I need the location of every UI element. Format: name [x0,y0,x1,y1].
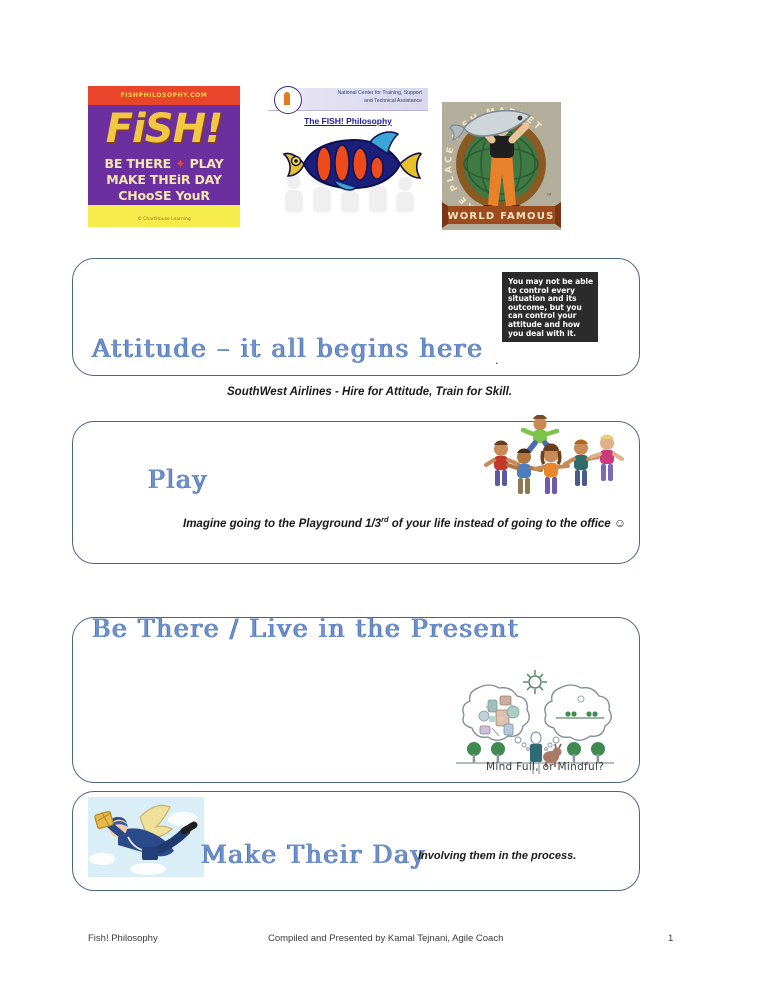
national-center-logo-icon [274,86,302,114]
subtitle-play-before: Imagine going to the Playground 1/3 [183,518,381,530]
fish-book-line3: MAKE THEiR DAY [88,172,240,188]
attitude-quote-card: You may not be able to control every sit… [502,272,598,342]
heading-attitude: Attitude – it all begins here [92,334,484,363]
fish-book-line2: PLAY [190,156,224,171]
fish-book-cover-image: FISHPHILOSOPHY.COM FiSH! BE THERE ✦ PLAY… [88,86,240,227]
smiley-icon: ☺ [614,516,626,530]
slide-banner-line1: National Center for Training, Support [310,89,422,97]
page-footer: Fish! Philosophy Compiled and Presented … [0,930,768,954]
pike-place-logo-graphic: PIKE PLACE FISH MARKET [442,102,561,230]
fish-philosophy-slide-image: National Center for Training, Support an… [268,84,428,212]
children-holding-hands-illustration [483,415,629,497]
fish-book-top-bar: FISHPHILOSOPHY.COM [88,86,240,105]
heading-be-there: Be There / Live in the Present [92,614,519,643]
pike-place-fish-market-image: PIKE PLACE FISH MARKET [442,102,561,230]
footer-left: Fish! Philosophy [88,933,158,944]
svg-text:™: ™ [546,193,552,200]
fish-book-title: FiSH! [88,106,240,152]
flying-mail-carrier-illustration [88,797,204,877]
slide-banner-text: National Center for Training, Support an… [310,89,422,105]
slide-banner-line2: and Technical Assistance [310,97,422,105]
header-image-strip: FISHPHILOSOPHY.COM FiSH! BE THERE ✦ PLAY… [0,84,768,244]
subtitle-southwest-airlines: SouthWest Airlines - Hire for Attitude, … [227,386,512,398]
heading-attitude-trailing-dot: . [495,352,499,367]
fish-book-line1: BE THERE [105,156,172,171]
footer-center: Compiled and Presented by Kamal Tejnani,… [268,933,503,944]
subtitle-play: Imagine going to the Playground 1/3rd of… [183,515,626,530]
subtitle-play-after: of your life instead of going to the off… [389,518,614,530]
slide-title: The FISH! Philosophy [268,116,428,126]
document-page: FISHPHILOSOPHY.COM FiSH! BE THERE ✦ PLAY… [0,0,768,994]
heading-play: Play [148,465,208,494]
svg-text:WORLD FAMOUS: WORLD FAMOUS [448,211,555,222]
striped-fish-illustration [274,128,422,198]
subtitle-play-ordinal: rd [381,515,389,524]
mindful-caption: Mind Full, or Mindful? [486,761,604,773]
fish-book-credit: © ChartHouse Learning [88,205,240,227]
heading-make-their-day: Make Their Day [201,840,426,869]
subtitle-make-their-day: Involving them in the process. [418,850,576,862]
footer-page-number: 1 [668,933,673,944]
